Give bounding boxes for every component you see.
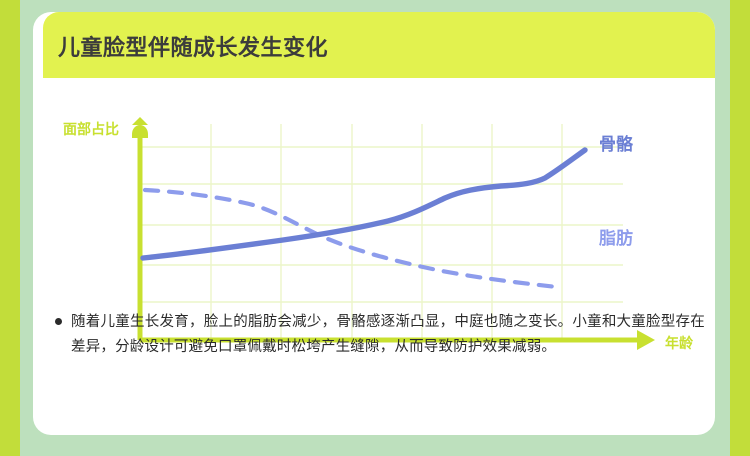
right-green-rail [730,0,750,456]
y-axis [132,117,148,340]
series-label-fat: 脂肪 [599,228,633,248]
content-card: 儿童脸型伴随成长发生变化 [33,12,715,435]
footnote: 随着儿童生长发育，脸上的脂肪会减少，骨骼感逐渐凸显，中庭也随之变长。小童和大童脸… [55,310,705,360]
series-label-bone: 骨骼 [599,134,634,154]
left-green-rail [0,0,20,456]
infographic-root: 儿童脸型伴随成长发生变化 [0,0,750,456]
series-line-fat [145,190,557,287]
vertical-gridlines [211,124,562,340]
series-line-bone [143,150,585,258]
footnote-text: 随着儿童生长发育，脸上的脂肪会减少，骨骼感逐渐凸显，中庭也随之变长。小童和大童脸… [71,310,705,360]
page-title: 儿童脸型伴随成长发生变化 [58,30,328,62]
bullet-icon [55,318,62,325]
y-axis-label: 面部占比 [63,121,119,137]
